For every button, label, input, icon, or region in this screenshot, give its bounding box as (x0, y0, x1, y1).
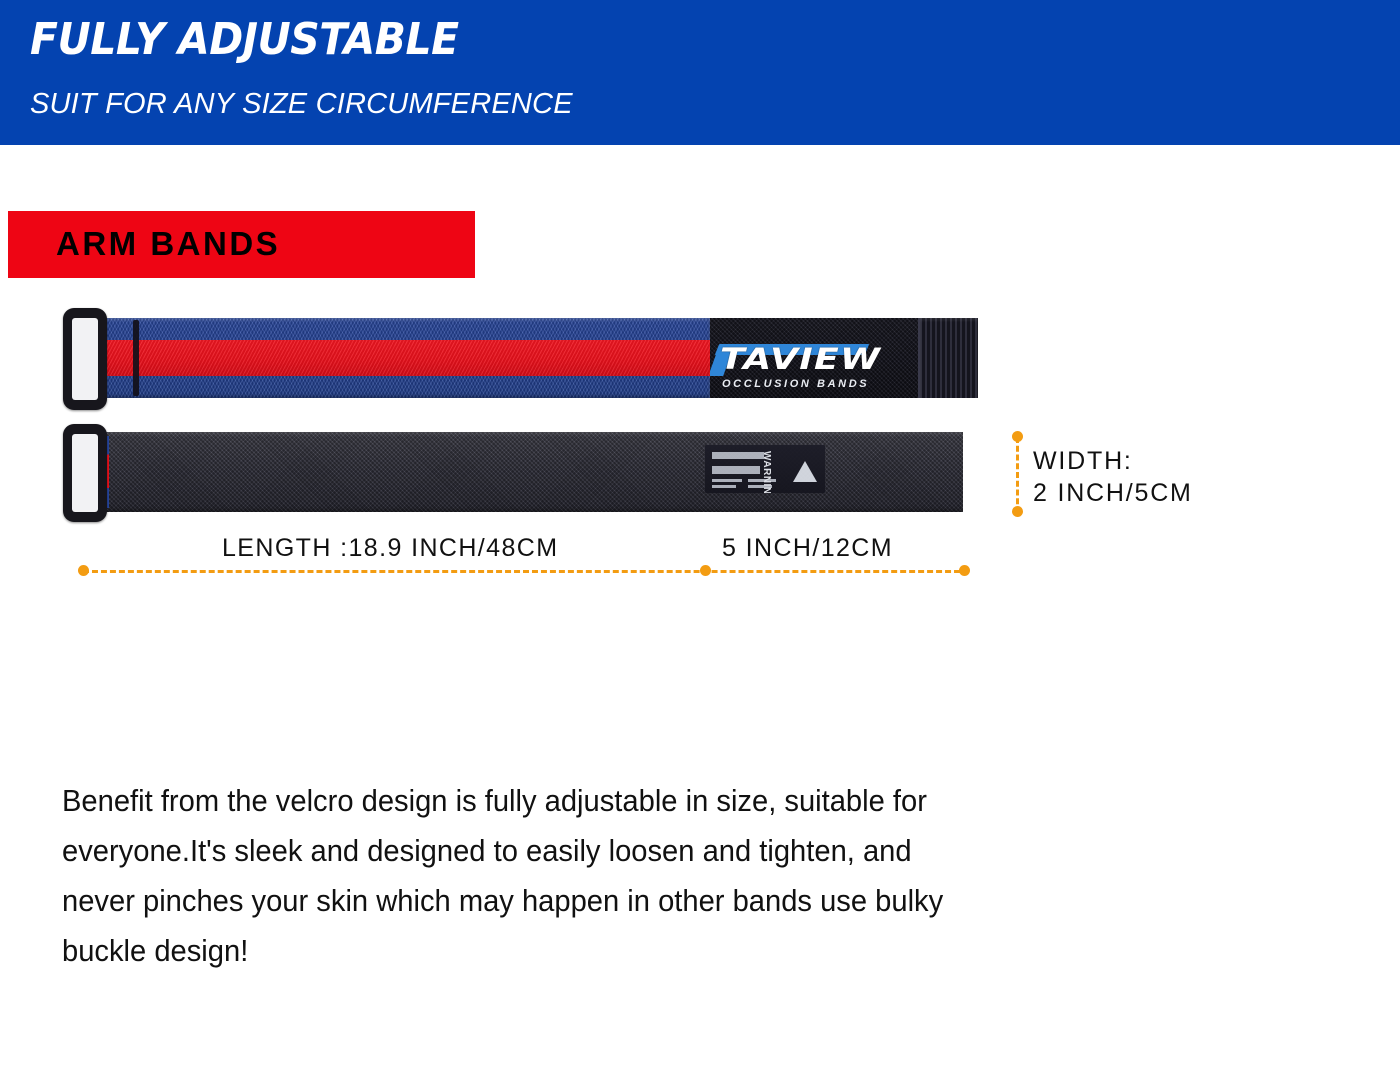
page-subtitle: SUIT FOR ANY SIZE CIRCUMFERENCE (30, 90, 573, 119)
width-label-line-1: WIDTH: (1033, 445, 1193, 477)
band-front-buckle-ring (63, 308, 107, 410)
width-dimension-label: WIDTH: 2 INCH/5CM (1033, 445, 1193, 509)
brand-tagline: OCCLUSION BANDS (722, 378, 869, 390)
care-label-text-line (712, 479, 742, 482)
width-dimension-line (1016, 437, 1019, 513)
band-back-view (88, 432, 963, 512)
length-dimension-label: LENGTH :18.9 INCH/48CM (222, 534, 558, 563)
tail-length-dimension-label: 5 INCH/12CM (722, 534, 893, 563)
warning-triangle-icon (793, 461, 817, 482)
section-tag-banner: ARM BANDS (8, 211, 475, 278)
care-symbols-icon (712, 466, 760, 474)
page-title: FULLY ADJUSTABLE (30, 18, 459, 62)
band-front-stitch-seam (133, 320, 139, 396)
header-banner: FULLY ADJUSTABLE SUIT FOR ANY SIZE CIRCU… (0, 0, 1400, 145)
section-tag-label: ARM BANDS (56, 225, 280, 263)
width-dimension-endpoint-dot (1012, 506, 1023, 517)
care-label-patch: WARNING (705, 445, 825, 493)
product-description-text: Benefit from the velcro design is fully … (62, 776, 964, 976)
length-dimension-divider-dot (700, 565, 711, 576)
band-front-red-stripe (88, 340, 710, 376)
length-dimension-endpoint-dot (78, 565, 89, 576)
care-label-warning-text: WARNING (761, 451, 772, 493)
band-back-buckle-ring (63, 424, 107, 522)
width-label-line-2: 2 INCH/5CM (1033, 477, 1193, 509)
band-front-view (88, 318, 710, 398)
length-dimension-endpoint-dot (959, 565, 970, 576)
band-front-velcro-tip (918, 318, 978, 398)
length-dimension-line (83, 570, 969, 573)
care-label-logo-icon (712, 452, 764, 459)
brand-wordmark: TAVIEW (720, 345, 881, 374)
width-dimension-endpoint-dot (1012, 431, 1023, 442)
care-label-text-line (712, 485, 736, 488)
brand-logo-patch: TAVIEW OCCLUSION BANDS (710, 318, 918, 398)
